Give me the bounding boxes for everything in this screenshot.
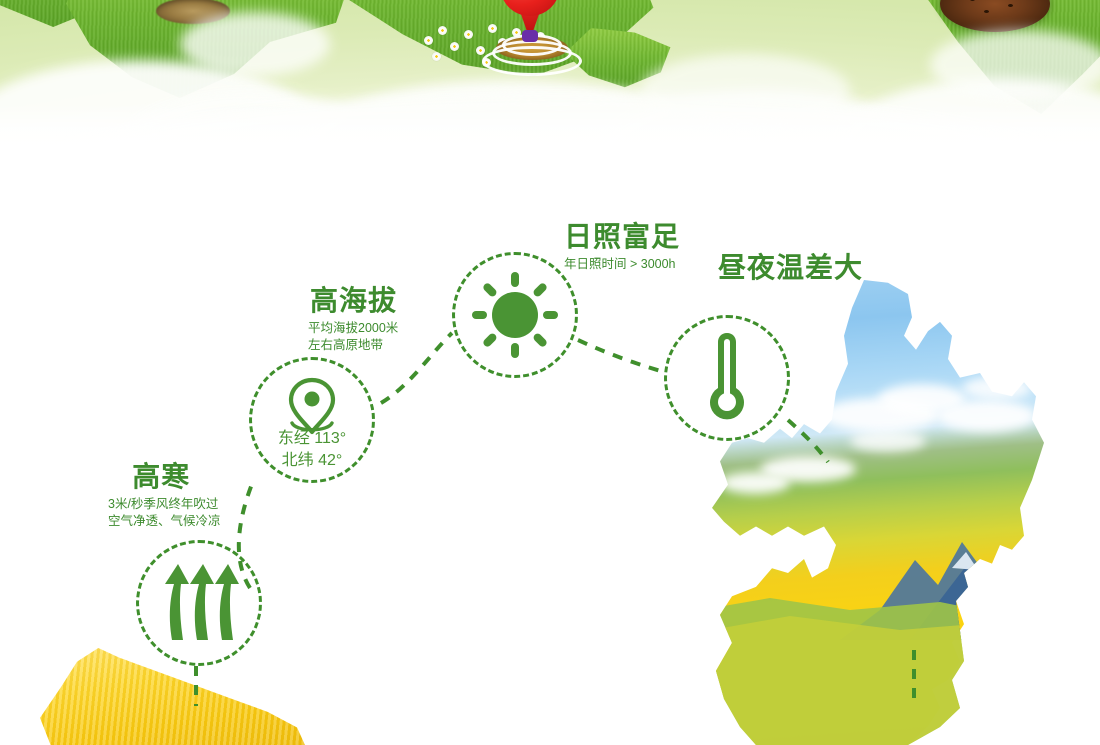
sun-icon [472, 272, 558, 358]
cold-subtitle-line2: 空气净透、气候冷凉 [108, 513, 221, 530]
connector-sunshine-temperature [578, 340, 664, 372]
grass-islands-banner [0, 0, 1100, 150]
up-arrows-icon [158, 562, 242, 644]
rapeseed-field-fragment [40, 648, 305, 745]
label-altitude: 高海拔 平均海拔2000米 左右高原地带 [308, 286, 398, 354]
latitude-value: 北纬 42° [252, 450, 372, 472]
sunshine-title: 日照富足 [564, 222, 680, 253]
cold-title: 高寒 [108, 462, 221, 493]
red-map-pin-icon [500, 0, 560, 42]
label-cold: 高寒 3米/秒季风终年吹过 空气净透、气候冷凉 [108, 462, 221, 530]
sunshine-subtitle: 年日照时间 > 3000h [564, 256, 680, 273]
banner-fade [0, 104, 1100, 150]
altitude-subtitle-line2: 左右高原地带 [308, 337, 398, 354]
altitude-title: 高海拔 [308, 286, 398, 317]
infographic-stage: 日照富足 年日照时间 > 3000h 高海拔 平均海拔2000米 左右高原地带 … [0, 0, 1100, 745]
altitude-subtitle-line1: 平均海拔2000米 [308, 320, 398, 337]
temperature-title: 昼夜温差大 [718, 253, 863, 284]
longitude-value: 东经 113° [252, 428, 372, 450]
thermometer-icon [702, 330, 752, 426]
label-sunshine: 日照富足 年日照时间 > 3000h [564, 222, 680, 273]
cold-subtitle-line1: 3米/秒季风终年吹过 [108, 496, 221, 513]
cloud [930, 30, 1100, 100]
label-temperature: 昼夜温差大 [718, 253, 863, 284]
cloud [180, 12, 330, 76]
coordinates-readout: 东经 113° 北纬 42° [252, 428, 372, 471]
